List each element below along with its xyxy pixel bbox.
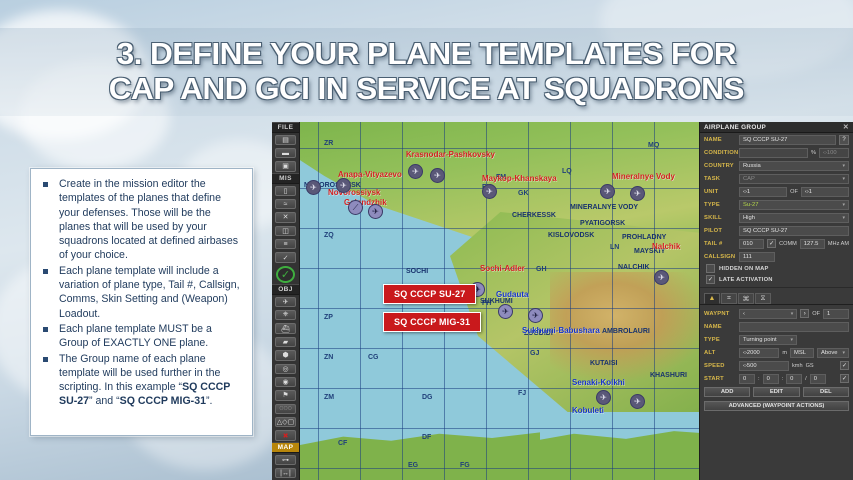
grid-label: CF <box>338 440 347 447</box>
condition-label: CONDITION <box>704 150 736 156</box>
list-item: Each plane template will include a varia… <box>37 264 242 321</box>
measure-icon[interactable]: |↔| <box>275 468 296 478</box>
waypoint-tabs: ▲ ⌗ ⌘ ⧖ <box>700 290 853 304</box>
grid-label: GH <box>536 266 547 273</box>
comm-input[interactable]: 127.5 <box>800 239 825 249</box>
waypoint-of-label: OF <box>812 311 820 317</box>
help-icon[interactable]: ? <box>839 135 849 145</box>
grid-label: DF <box>422 434 431 441</box>
toolbar-group-mis: MIS <box>272 173 299 184</box>
callout-mig31: SQ CCCP MIG-31 <box>383 312 481 332</box>
toolbar-group-obj: OBJ <box>272 284 299 295</box>
map-gridline <box>570 122 571 480</box>
airfield-label-nalchik: Nalchik <box>652 242 680 251</box>
field-row-tail: TAIL # 010 ✓ COMM 127.5 MHz AM <box>700 237 853 250</box>
speed-unit: kmh <box>792 363 803 369</box>
airfield-label-maykop: Maykop-Khanskaya <box>482 174 557 183</box>
unit-marker[interactable]: ✈ <box>408 164 423 179</box>
field-row-waypoint: WAYPNT ‹ ▾ › OF 1 <box>700 307 853 320</box>
start-seconds-input[interactable]: 0 <box>786 374 802 384</box>
skill-value: High <box>743 215 755 221</box>
skill-select[interactable]: High ▾ <box>739 213 849 223</box>
city-label: PYATIGORSK <box>580 220 625 227</box>
route-tab[interactable]: ⌘ <box>738 293 754 304</box>
grid-label: GJ <box>530 350 539 357</box>
field-row-waypoint-type: TYPE Turning point ▾ <box>700 333 853 346</box>
late-activation-checkbox[interactable]: ✓ <box>706 275 715 284</box>
waypoint-name-label: NAME <box>704 324 736 330</box>
map-gridline <box>300 468 699 469</box>
chevron-down-icon: ▾ <box>842 176 845 182</box>
hidden-on-map-row[interactable]: HIDDEN ON MAP <box>700 263 853 274</box>
late-activation-label: LATE ACTIVATION <box>719 277 773 283</box>
city-label: MINERALNYE VODY <box>570 204 638 211</box>
group-name-mig31: SQ CCCP MIG-31 <box>120 395 206 407</box>
coalition-icon[interactable]: ◫ <box>275 226 296 236</box>
type-value: Su-27 <box>743 202 758 208</box>
callout-su27: SQ CCCP SU-27 <box>383 284 476 304</box>
grid-label: ZM <box>324 394 334 401</box>
map-gridline <box>300 348 699 349</box>
speed-label: SPEED <box>704 363 736 369</box>
alt-reference[interactable]: MSL <box>790 348 814 358</box>
mission-editor-window: FILE ▤ ▬ ▣ MIS ▯ ≈ ✕ ◫ ≡ ✓ ✓ OBJ ✈ ⎈ ⛴ ▰… <box>272 122 853 480</box>
field-row-task: TASK CAP ▾ <box>700 172 853 185</box>
cargo-icon[interactable]: ◎ <box>275 364 296 374</box>
condition-unit: % <box>811 150 816 156</box>
airfield-label-krasnodar: Krasnodar-Pashkovsky <box>406 150 495 159</box>
formation-tab[interactable]: ⌗ <box>721 293 737 304</box>
edit-waypoint-button[interactable]: EDIT <box>753 387 799 397</box>
pilot-label: PILOT <box>704 228 736 234</box>
waypoint-label: WAYPNT <box>704 311 736 317</box>
callsign-input[interactable]: 111 <box>739 252 775 262</box>
unit-marker[interactable]: ⟋ <box>348 200 363 215</box>
alt-mode-value: Above <box>821 350 837 356</box>
editor-toolbar: FILE ▤ ▬ ▣ MIS ▯ ≈ ✕ ◫ ≡ ✓ ✓ OBJ ✈ ⎈ ⛴ ▰… <box>272 122 300 480</box>
map-gridline <box>300 428 699 429</box>
field-row-skill: SKILL High ▾ <box>700 211 853 224</box>
map-gridline <box>300 388 699 389</box>
chevron-down-icon: ▾ <box>842 163 845 169</box>
type-select[interactable]: Su-27 ▾ <box>739 200 849 210</box>
airfield-label-sochi-adler: Sochi-Adler <box>480 264 525 273</box>
unit-marker[interactable]: ✈ <box>528 308 543 323</box>
weather-icon[interactable]: ≈ <box>275 199 296 209</box>
field-row-waypoint-name: NAME <box>700 320 853 333</box>
chevron-down-icon: ▾ <box>790 337 793 343</box>
unit-marker[interactable]: ✈ <box>630 186 645 201</box>
comm-label: COMM <box>779 241 797 247</box>
field-row-name: NAME SQ CCCP SU-27 ? <box>700 133 853 146</box>
panel-title: AIRPLANE GROUP <box>704 124 766 131</box>
alt-stepper[interactable]: ‹ › 2000 <box>739 348 779 358</box>
comm-unit: MHz AM <box>828 241 849 247</box>
tail-input[interactable]: 010 <box>739 239 764 249</box>
city-label: AMBROLAURI <box>602 328 650 335</box>
condition-percent-value: 100 <box>827 150 837 156</box>
title-line-1: 3. DEFINE YOUR PLANE TEMPLATES FOR <box>109 37 744 72</box>
airfield-label-sukhumi: Sukhumi-Babushara <box>522 326 600 335</box>
airfield-label-novorossiysk: Novorossiysk <box>328 188 380 197</box>
del-waypoint-button[interactable]: DEL <box>803 387 849 397</box>
skill-label: SKILL <box>704 215 736 221</box>
page-title: 3. DEFINE YOUR PLANE TEMPLATES FOR CAP A… <box>48 37 805 106</box>
list-item: Create in the mission editor the templat… <box>37 177 242 263</box>
waypoint-tab[interactable]: ▲ <box>704 293 720 304</box>
alt-label: ALT <box>704 350 736 356</box>
map-gridline <box>318 122 319 480</box>
field-row-pilot: PILOT SQ CCCP SU-27 <box>700 224 853 237</box>
grid-label: GK <box>518 190 529 197</box>
helicopter-icon[interactable]: ⎈ <box>275 310 296 320</box>
remove-icon[interactable]: ✖ <box>275 430 296 440</box>
chevron-down-icon: ▾ <box>791 311 794 317</box>
field-row-unit: UNIT ‹ › 1 OF ‹ › 1 <box>700 185 853 198</box>
waypoint-panel: WAYPNT ‹ ▾ › OF 1 NAME TYPE Turning poin… <box>700 304 853 413</box>
day-separator: / <box>805 376 807 382</box>
unit-marker[interactable]: ✈ <box>498 304 513 319</box>
name-input[interactable]: SQ CCCP SU-27 <box>739 135 836 145</box>
grid-label: FG <box>460 462 470 469</box>
unit-marker[interactable]: ✈ <box>654 270 669 285</box>
unit-marker[interactable]: ✈ <box>368 204 383 219</box>
country-label: COUNTRY <box>704 163 736 169</box>
grid-label: CG <box>368 354 379 361</box>
bullet-text-mid: ” and “ <box>89 395 120 407</box>
open-folder-icon[interactable]: ▬ <box>275 148 296 158</box>
unit-marker[interactable]: ✈ <box>630 394 645 409</box>
hidden-on-map-checkbox[interactable] <box>706 264 715 273</box>
unit-of-label: OF <box>790 189 798 195</box>
unit-stepper[interactable]: ‹ › 1 <box>739 187 787 197</box>
unit-label: UNIT <box>704 189 736 195</box>
grid-label: FJ <box>518 390 526 397</box>
task-value: CAP <box>743 176 755 182</box>
waypoint-next-button[interactable]: › <box>800 309 809 318</box>
plane-icon[interactable]: ✈ <box>275 297 296 307</box>
start-checkbox[interactable]: ✓ <box>840 374 849 383</box>
city-label: KISLOVODSK <box>548 232 594 239</box>
add-waypoint-button[interactable]: ADD <box>704 387 750 397</box>
city-label: PROHLADNY <box>622 234 666 241</box>
field-row-country: COUNTRY Russia ▾ <box>700 159 853 172</box>
grid-label: MQ <box>648 142 659 149</box>
zone-icon[interactable]: ◌◌◌ <box>275 404 296 414</box>
type-label: TYPE <box>704 202 736 208</box>
field-row-type: TYPE Su-27 ▾ <box>700 198 853 211</box>
bullet-text-post: ”. <box>206 395 212 407</box>
list-item: Each plane template MUST be a Group of E… <box>37 322 242 351</box>
name-label: NAME <box>704 137 736 143</box>
options-icon[interactable]: ≡ <box>275 239 296 249</box>
speed-mode: GS <box>806 363 814 369</box>
waypoint-type-label: TYPE <box>704 337 736 343</box>
field-row-alt: ALT ‹ › 2000 m MSL Above ▾ <box>700 346 853 359</box>
hidden-on-map-label: HIDDEN ON MAP <box>719 266 769 272</box>
city-label: NALCHIK <box>618 264 650 271</box>
close-icon[interactable]: ✕ <box>843 123 849 131</box>
airfield-label-gudauta: Gudauta <box>496 290 528 299</box>
start-label: START <box>704 376 736 382</box>
waypoint-button-row: ADD EDIT DEL <box>700 385 853 399</box>
list-item: The Group name of each plane template wi… <box>37 352 242 409</box>
unit-total-value: 1 <box>809 189 812 195</box>
airfield-label-kobuleti: Kobuleti <box>572 406 604 415</box>
start-hours-input[interactable]: 0 <box>739 374 755 384</box>
map-gridline <box>300 148 699 149</box>
grid-label: EG <box>408 462 418 469</box>
trigger-icon[interactable]: ⚑ <box>275 390 296 400</box>
waypoint-type-select[interactable]: Turning point ▾ <box>739 335 797 345</box>
speed-stepper[interactable]: ‹ › 500 <box>739 361 789 371</box>
callsign-label: CALLSIGN <box>704 254 736 260</box>
unit-marker[interactable]: ✈ <box>306 180 321 195</box>
speed-checkbox[interactable]: ✓ <box>840 361 849 370</box>
alt-unit: m <box>782 350 787 356</box>
pilot-input[interactable]: SQ CCCP SU-27 <box>739 226 849 236</box>
field-row-speed: SPEED ‹ › 500 kmh GS ✓ <box>700 359 853 372</box>
start-day-input[interactable]: 0 <box>810 374 826 384</box>
alt-mode-select[interactable]: Above ▾ <box>817 348 849 358</box>
city-label: KUTAISI <box>590 360 617 367</box>
chevron-down-icon: ▾ <box>842 215 845 221</box>
grid-label: ZR <box>324 140 333 147</box>
ruler-icon[interactable]: ⊶ <box>275 455 296 465</box>
panel-title-bar: AIRPLANE GROUP ✕ <box>700 122 853 133</box>
title-line-2: CAP AND GCI IN SERVICE AT SQUADRONS <box>109 72 744 107</box>
slide-title-band: 3. DEFINE YOUR PLANE TEMPLATES FOR CAP A… <box>0 28 853 116</box>
ground-icon[interactable]: ◉ <box>275 377 296 387</box>
payload-tab[interactable]: ⧖ <box>755 293 771 304</box>
airfield-label-anapa: Anapa-Vityazevo <box>338 170 402 179</box>
airfield-label-senaki: Senaki-Kolkhi <box>572 378 625 387</box>
field-row-start: START 0 : 0 : 0 / 0 ✓ <box>700 372 853 385</box>
unit-marker[interactable]: ✈ <box>430 168 445 183</box>
country-select[interactable]: Russia ▾ <box>739 161 849 171</box>
country-value: Russia <box>743 163 761 169</box>
toolbar-group-map: MAP <box>272 442 299 453</box>
alt-value: 2000 <box>747 350 760 356</box>
city-label: SOCHI <box>406 268 428 275</box>
grid-label: ZN <box>324 354 333 361</box>
toolbar-group-file: FILE <box>272 122 299 133</box>
waypoint-type-value: Turning point <box>743 337 777 343</box>
unit-value: 1 <box>747 189 750 195</box>
chevron-down-icon: ▾ <box>842 350 845 356</box>
panel-divider <box>700 287 853 288</box>
grid-label: LQ <box>562 168 572 175</box>
city-label: CHERKESSK <box>512 212 556 219</box>
time-separator: : <box>758 376 760 382</box>
bullet-list: Create in the mission editor the templat… <box>37 177 242 409</box>
unit-marker[interactable]: ✈ <box>482 184 497 199</box>
landmass-southwest <box>300 417 540 480</box>
airplane-group-panel: AIRPLANE GROUP ✕ NAME SQ CCCP SU-27 ? CO… <box>699 122 853 480</box>
map-gridline <box>300 228 699 229</box>
mission-map[interactable]: ZR ZQ ZP ZN ZM DJ DG DF CF CG EG FG FJ G… <box>300 122 699 480</box>
condition-percent-stepper[interactable]: ‹ › 100 <box>819 148 849 158</box>
waypoint-total: 1 <box>823 309 849 319</box>
summary-icon[interactable]: ✓ <box>275 252 296 262</box>
waypoint-name-input[interactable] <box>739 322 849 332</box>
tail-label: TAIL # <box>704 241 736 247</box>
landmass-southeast <box>530 422 699 480</box>
advanced-button-row: ADVANCED (WAYPOINT ACTIONS) <box>700 399 853 413</box>
chevron-down-icon: ▾ <box>842 202 845 208</box>
failures-icon[interactable]: ✕ <box>275 212 296 222</box>
advanced-waypoint-actions-button[interactable]: ADVANCED (WAYPOINT ACTIONS) <box>704 401 849 411</box>
unit-marker[interactable]: ✈ <box>336 178 351 193</box>
late-activation-row[interactable]: ✓ LATE ACTIVATION <box>700 274 853 285</box>
airfield-label-minvody: Mineralnye Vody <box>612 172 675 181</box>
unit-marker[interactable]: ✈ <box>596 390 611 405</box>
grid-label: DG <box>422 394 433 401</box>
city-label: KHASHURI <box>650 372 687 379</box>
static-icon[interactable]: ⬢ <box>275 350 296 360</box>
grid-label: ZQ <box>324 232 334 239</box>
waypoint-select[interactable]: ‹ ▾ <box>739 309 797 319</box>
ship-icon[interactable]: ⛴ <box>275 323 296 333</box>
bullet-panel: Create in the mission editor the templat… <box>30 168 253 436</box>
grid-label: LN <box>610 244 619 251</box>
unit-total-stepper[interactable]: ‹ › 1 <box>801 187 849 197</box>
task-select[interactable]: CAP ▾ <box>739 174 849 184</box>
goal-icon[interactable]: △◇▢ <box>275 417 296 427</box>
field-row-callsign: CALLSIGN 111 <box>700 250 853 263</box>
start-minutes-input[interactable]: 0 <box>763 374 779 384</box>
grid-label: ZP <box>324 314 333 321</box>
field-row-condition: CONDITION % ‹ › 100 <box>700 146 853 159</box>
task-label: TASK <box>704 176 736 182</box>
save-disk-icon[interactable]: ▣ <box>275 161 296 171</box>
briefing-icon[interactable]: ▯ <box>275 186 296 196</box>
vehicle-icon[interactable]: ▰ <box>275 337 296 347</box>
condition-input[interactable] <box>739 148 808 158</box>
unit-marker[interactable]: ✈ <box>600 184 615 199</box>
comm-checkbox[interactable]: ✓ <box>767 239 776 248</box>
validate-mission-icon[interactable]: ✓ <box>276 266 295 283</box>
speed-value: 500 <box>747 363 757 369</box>
new-file-icon[interactable]: ▤ <box>275 135 296 145</box>
stepper-left-icon[interactable]: ‹ <box>743 311 745 317</box>
time-separator: : <box>782 376 784 382</box>
